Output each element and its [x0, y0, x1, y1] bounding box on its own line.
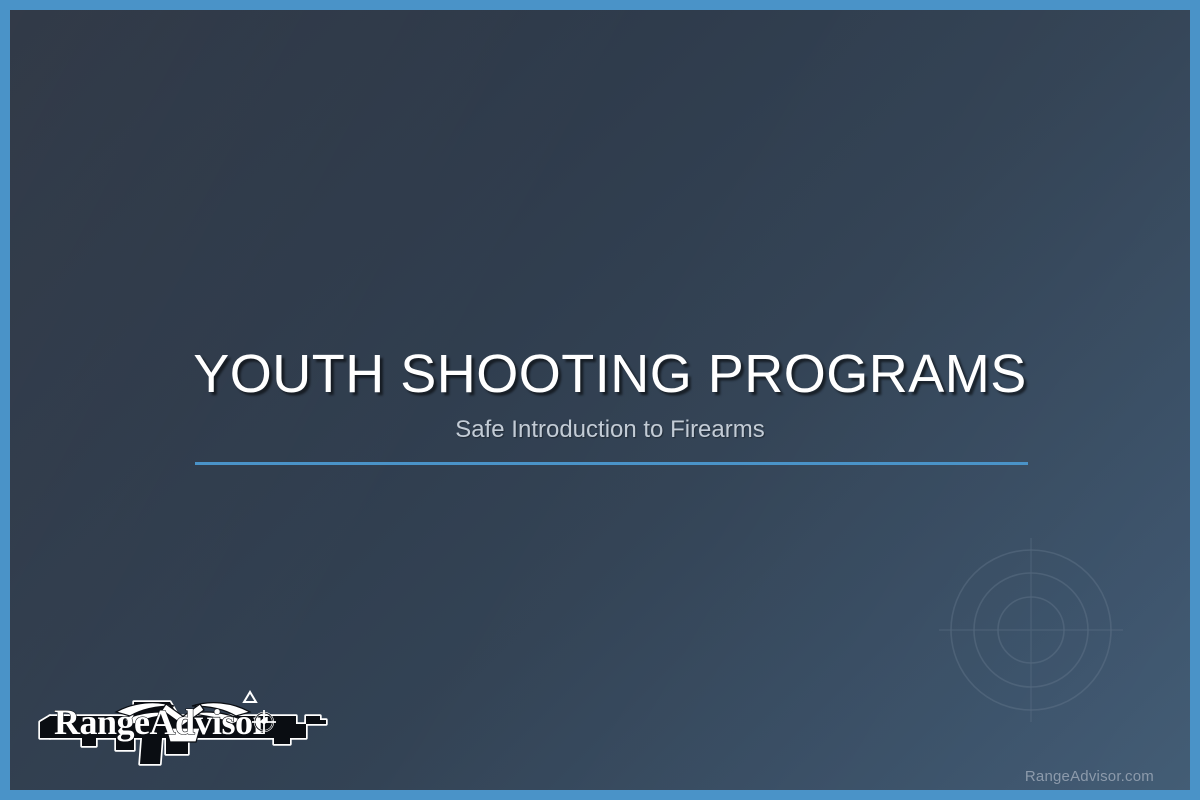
brand-wordmark: RangeAdvisor — [54, 702, 269, 742]
page-subtitle: Safe Introduction to Firearms — [10, 417, 1200, 443]
crosshair-target-icon — [931, 530, 1131, 730]
page-title: YOUTH SHOOTING PROGRAMS — [10, 346, 1200, 403]
title-block: YOUTH SHOOTING PROGRAMS Safe Introductio… — [10, 346, 1200, 444]
accent-divider — [195, 462, 1028, 465]
front-sight-icon — [244, 692, 256, 702]
brand-logo: RangeAdvisor — [38, 676, 328, 776]
footer-website: RangeAdvisor.com — [1025, 768, 1154, 785]
title-slide: YOUTH SHOOTING PROGRAMS Safe Introductio… — [0, 0, 1200, 800]
